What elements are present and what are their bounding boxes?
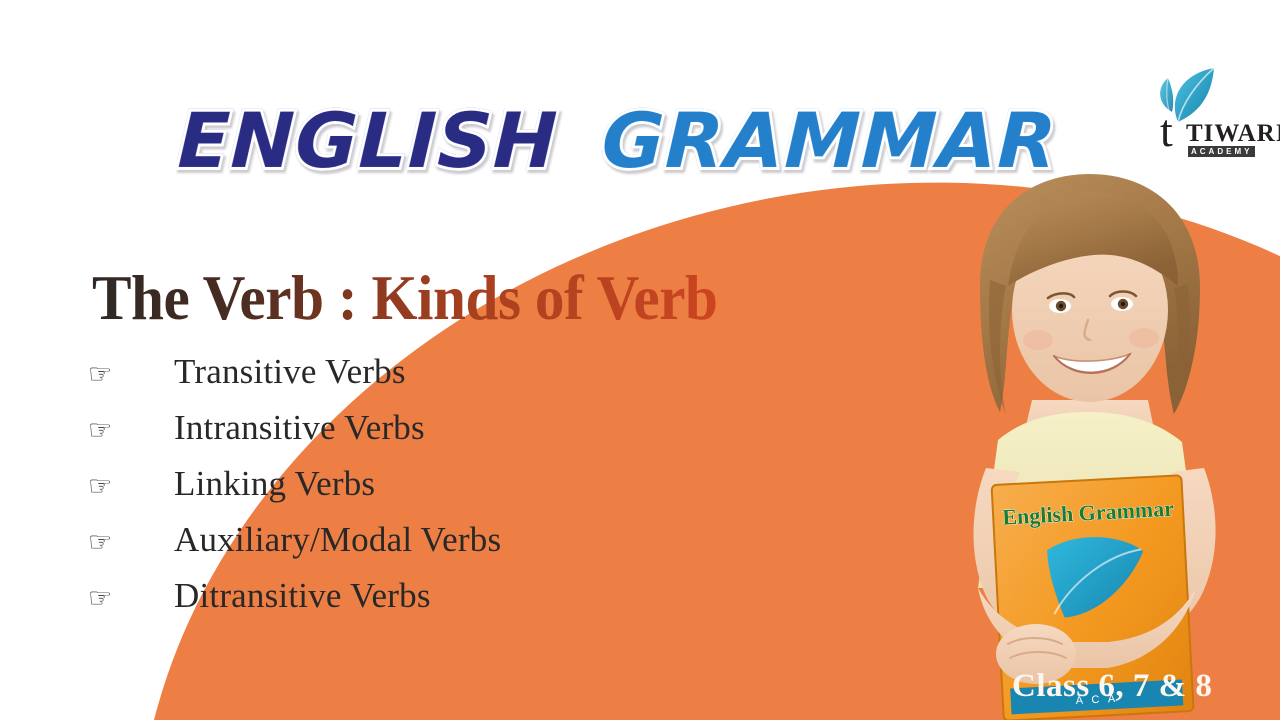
class-label: Class 6, 7 & 8: [1012, 668, 1212, 705]
list-item: ☞ Intransitive Verbs: [88, 408, 728, 464]
list-item-label: Linking Verbs: [174, 464, 375, 504]
list-item: ☞ Ditransitive Verbs: [88, 576, 728, 632]
pointing-hand-icon: ☞: [88, 473, 174, 500]
list-item: ☞ Linking Verbs: [88, 464, 728, 520]
logo-subtitle: ACADEMY: [1188, 146, 1255, 157]
pointing-hand-icon: ☞: [88, 361, 174, 388]
tiwari-academy-logo: t TIWARI ACADEMY: [1152, 60, 1260, 170]
slide-canvas: ENGLISH GRAMMAR t TIWARI ACADEMY The Ver…: [0, 0, 1280, 720]
logo-t-letter: t: [1160, 108, 1173, 154]
list-item-label: Intransitive Verbs: [174, 408, 425, 448]
verb-kinds-list: ☞ Transitive Verbs ☞ Intransitive Verbs …: [88, 352, 728, 632]
list-item-label: Ditransitive Verbs: [174, 576, 431, 616]
pointing-hand-icon: ☞: [88, 529, 174, 556]
title-word-english: ENGLISH: [176, 96, 559, 185]
student-photo: English Grammar A C A: [912, 168, 1280, 720]
logo-wordmark: TIWARI: [1186, 120, 1280, 148]
list-item-label: Auxiliary/Modal Verbs: [174, 520, 501, 560]
list-item-label: Transitive Verbs: [174, 352, 406, 392]
girl-with-book-illustration: English Grammar A C A: [912, 168, 1280, 720]
pointing-hand-icon: ☞: [88, 585, 174, 612]
pointing-hand-icon: ☞: [88, 417, 174, 444]
page-title: The Verb : Kinds of Verb: [92, 262, 717, 335]
list-item: ☞ Transitive Verbs: [88, 352, 728, 408]
list-item: ☞ Auxiliary/Modal Verbs: [88, 520, 728, 576]
